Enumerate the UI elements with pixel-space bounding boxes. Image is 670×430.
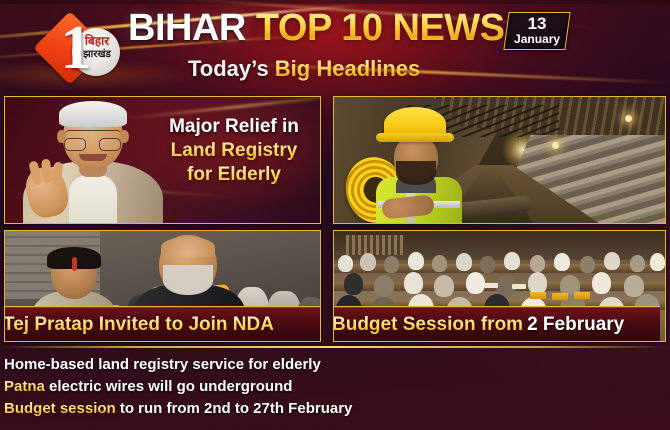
audience-head [404,272,423,294]
audience-head [432,255,447,272]
headline-ticker: Home-based land registry service for eld… [0,346,670,430]
audience-head [466,272,485,294]
page-subtitle: Today’s Big Headlines [188,56,420,82]
audience-head [344,273,363,295]
card4-caption-bar: Budget Session from 2 February [333,306,660,342]
card1-headline-line1: Major Relief in [151,115,317,139]
audience-head [384,256,399,273]
page-subtitle-gold: Big Headlines [275,56,420,81]
card1-headline-line3: for Elderly [151,163,317,187]
ticker-divider [0,346,670,348]
ticker-line-3-gold: Budget session [4,400,120,417]
page-subtitle-white: Today’s [188,56,275,81]
ticker-line-2-gold: Patna [4,378,49,395]
card1-headline: Major Relief in Land Registry for Elderl… [151,115,317,187]
figure-mouth [79,154,107,161]
news-card-land-registry[interactable]: Major Relief in Land Registry for Elderl… [4,96,321,224]
amit-shah-beard [163,265,213,295]
amit-shah-forehead [161,237,215,257]
news-card-underground-wires[interactable] [333,96,666,224]
ticker-line-2: Patna electric wires will go underground [4,378,292,395]
figure-finger-2 [41,159,52,184]
news-graphic-canvas: 1 st बिहार झारखंड BIHAR TOP 10 NEWS 13 J… [0,0,670,430]
audience-head [624,275,644,297]
figure-kurta [69,175,117,223]
audience-head [360,253,376,271]
hard-hat-brim [376,133,454,142]
audience-head [650,253,665,271]
ticker-line-1-white: Home-based land registry service for eld… [4,356,321,373]
audience-head [434,275,454,297]
audience-head [592,272,611,294]
desk-paper-2 [512,284,526,289]
card4-caption-white: 2 February [523,314,624,336]
logo-hindi-line1: बिहार [74,36,120,47]
audience-head [374,275,394,297]
figure-hair [59,101,127,127]
card2-artwork [334,97,665,223]
ticker-line-2-white: electric wires will go underground [49,378,292,395]
audience-head [530,255,545,272]
figure-ear-right [120,130,129,143]
electrician-figure [348,105,480,223]
news-card-budget-session[interactable]: Budget Session from 2 February [333,230,666,342]
date-badge: 13 January [503,12,570,50]
desk-file-1 [530,292,546,299]
card4-caption-gold: Budget Session from [333,314,523,336]
logo-hindi-text: बिहार झारखंड [74,36,120,60]
ticker-line-3-white: to run from 2nd to 27th February [120,400,353,417]
desk-file-3 [574,292,590,299]
card3-caption-gold: Tej Pratap Invited to Join NDA [4,314,274,336]
audience-head [528,272,547,294]
date-day: 13 [507,15,567,33]
desk-paper-1 [484,283,498,288]
nitish-kumar-figure [23,99,163,223]
audience-head [408,252,424,270]
audience-head [338,255,353,272]
audience-head [504,252,520,270]
ticker-line-1: Home-based land registry service for eld… [4,356,321,373]
audience-head [554,253,570,271]
audience-head [630,255,645,272]
audience-head [456,253,472,271]
tunnel-lamp-2 [625,115,632,122]
card1-headline-line2: Land Registry [151,139,317,163]
audience-head [480,256,495,273]
audience-head [580,256,595,273]
worker-beard [396,161,436,185]
channel-logo[interactable]: 1 st बिहार झारखंड [22,16,138,88]
card3-caption-bar: Tej Pratap Invited to Join NDA [4,306,321,342]
audience-head [604,252,620,270]
page-title: BIHAR TOP 10 NEWS [128,6,505,50]
ticker-line-3: Budget session to run from 2nd to 27th F… [4,400,352,417]
page-title-gold: TOP 10 NEWS [256,7,505,49]
header-bar: 1 st बिहार झारखंड BIHAR TOP 10 NEWS 13 J… [0,0,670,92]
logo-hindi-line2: झारखंड [74,49,120,60]
desk-file-2 [552,293,568,300]
logo-ordinal: st [60,64,71,80]
page-title-white: BIHAR [128,7,256,49]
news-card-tej-pratap[interactable]: Tej Pratap Invited to Join NDA [4,230,321,342]
figure-glasses-bridge [65,130,121,143]
date-month: January [507,33,567,46]
tilak-mark [72,257,77,271]
